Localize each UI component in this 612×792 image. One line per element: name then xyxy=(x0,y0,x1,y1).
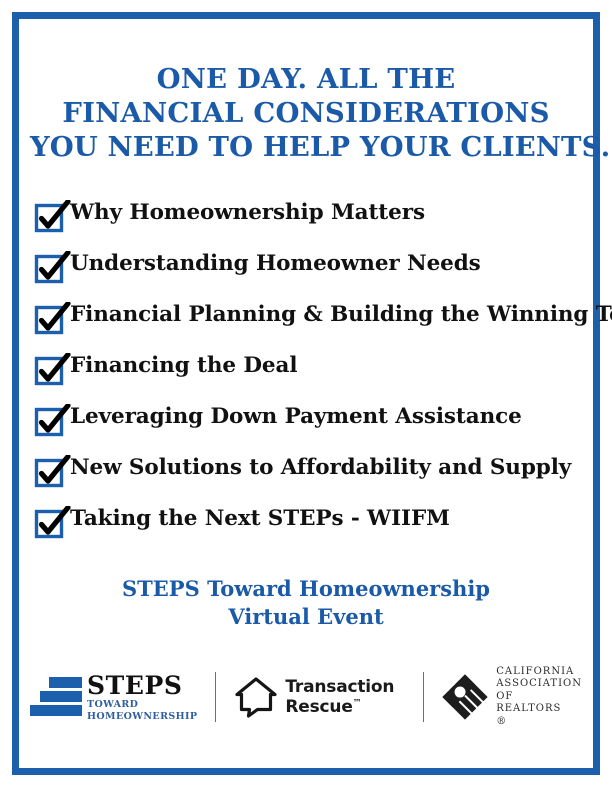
list-item: Financial Planning & Building the Winnin… xyxy=(34,300,594,351)
logo-divider xyxy=(423,672,424,722)
list-item-label: Why Homeownership Matters xyxy=(70,198,594,228)
logo-bar: STEPS TOWARD HOMEOWNERSHIP Transaction R… xyxy=(30,662,582,732)
list-item: Understanding Homeowner Needs xyxy=(34,249,594,300)
checked-checkbox-icon xyxy=(34,506,74,540)
list-item: Taking the Next STEPs - WIIFM xyxy=(34,504,594,555)
headline-line-1: ONE DAY. ALL THE xyxy=(30,62,582,96)
steps-logo-tagline-2: HOMEOWNERSHIP xyxy=(87,712,197,722)
page-title: ONE DAY. ALL THE FINANCIAL CONSIDERATION… xyxy=(30,62,582,164)
car-diamond-fan-icon xyxy=(442,674,488,720)
list-item: Why Homeownership Matters xyxy=(34,198,594,249)
steps-logo-tagline-1: TOWARD xyxy=(87,700,197,710)
flyer-page: ONE DAY. ALL THE FINANCIAL CONSIDERATION… xyxy=(0,0,612,792)
transaction-rescue-logo: Transaction Rescue™ xyxy=(234,662,405,732)
logo-divider xyxy=(215,672,216,722)
headline-line-2: FINANCIAL CONSIDERATIONS xyxy=(30,96,582,130)
car-logo-line-3: OF REALTORS® xyxy=(496,691,582,729)
trademark-symbol: ™ xyxy=(353,698,362,708)
checklist: Why Homeownership Matters Understanding … xyxy=(34,198,594,555)
list-item-label: Taking the Next STEPs - WIIFM xyxy=(70,504,594,534)
list-item-label: Financing the Deal xyxy=(70,351,594,381)
car-logo-line-2: ASSOCIATION xyxy=(496,678,582,691)
event-subtitle-line-2: Virtual Event xyxy=(30,603,582,631)
list-item-label: Understanding Homeowner Needs xyxy=(70,249,594,279)
headline-line-3: YOU NEED TO HELP YOUR CLIENTS. xyxy=(30,130,582,164)
steps-logo: STEPS TOWARD HOMEOWNERSHIP xyxy=(30,662,197,732)
list-item-label: New Solutions to Affordability and Suppl… xyxy=(70,453,594,483)
registered-symbol: ® xyxy=(496,716,582,729)
car-logo-line-3-text: OF REALTORS xyxy=(496,691,582,716)
event-subtitle: STEPS Toward Homeownership Virtual Event xyxy=(30,575,582,631)
car-logo-line-1: CALIFORNIA xyxy=(496,666,582,679)
list-item-label: Financial Planning & Building the Winnin… xyxy=(70,300,612,330)
list-item: New Solutions to Affordability and Suppl… xyxy=(34,453,594,504)
steps-stairs-icon xyxy=(30,675,82,719)
checked-checkbox-icon xyxy=(34,353,74,387)
list-item-label: Leveraging Down Payment Assistance xyxy=(70,402,594,432)
checked-checkbox-icon xyxy=(34,404,74,438)
house-speech-bubble-icon xyxy=(234,675,278,719)
checked-checkbox-icon xyxy=(34,251,74,285)
checked-checkbox-icon xyxy=(34,455,74,489)
car-logo: CALIFORNIA ASSOCIATION OF REALTORS® xyxy=(442,662,582,732)
transaction-rescue-name-text: Transaction Rescue xyxy=(285,677,394,717)
event-subtitle-line-1: STEPS Toward Homeownership xyxy=(30,575,582,603)
list-item: Financing the Deal xyxy=(34,351,594,402)
checked-checkbox-icon xyxy=(34,200,74,234)
steps-logo-name: STEPS xyxy=(87,673,197,698)
transaction-rescue-name: Transaction Rescue™ xyxy=(285,677,405,717)
list-item: Leveraging Down Payment Assistance xyxy=(34,402,594,453)
checked-checkbox-icon xyxy=(34,302,74,336)
